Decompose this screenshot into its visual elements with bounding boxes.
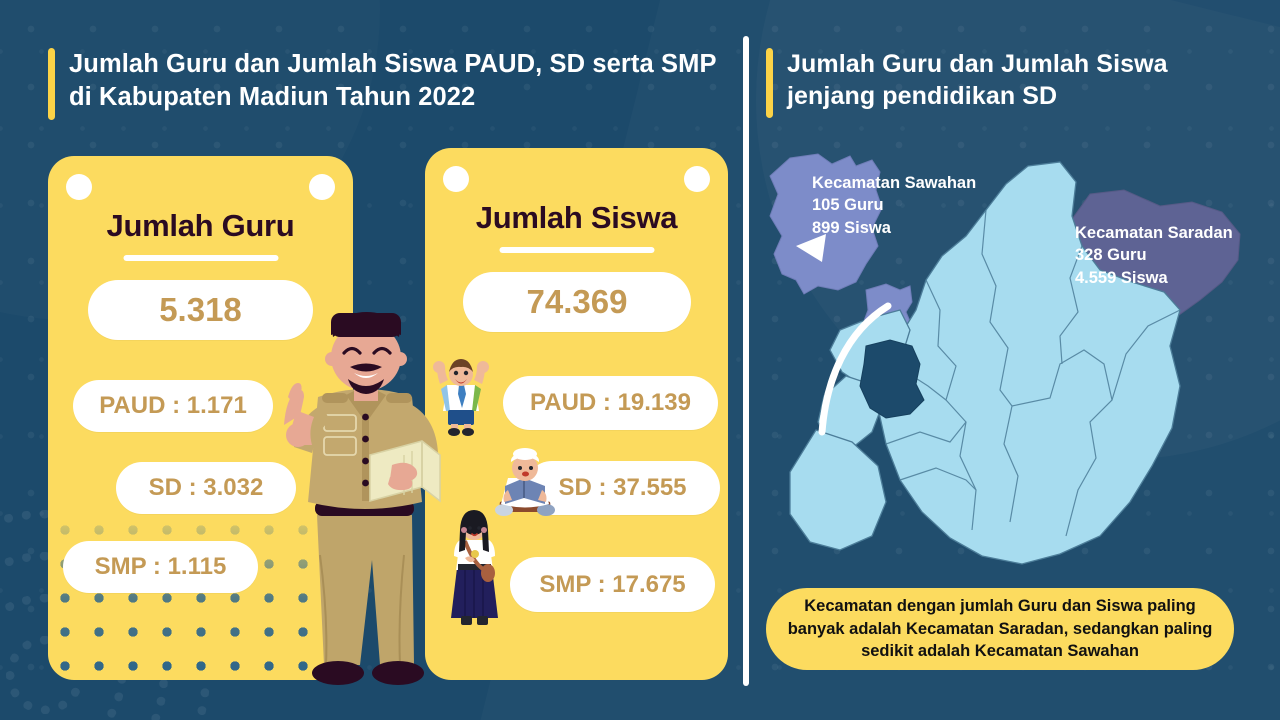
- infographic-canvas: Jumlah Guru dan Jumlah Siswa PAUD, SD se…: [0, 0, 1280, 720]
- right-title-accent-bar: [766, 48, 773, 118]
- map-caption-box: Kecamatan dengan jumlah Guru dan Siswa p…: [766, 588, 1234, 670]
- map-region-dark-inset: [860, 340, 924, 418]
- card-underline: [123, 255, 278, 261]
- map-label-sawahan: Kecamatan Sawahan 105 Guru 899 Siswa: [812, 172, 976, 239]
- left-title-text: Jumlah Guru dan Jumlah Siswa PAUD, SD se…: [69, 48, 728, 113]
- breakdown-pill-paud: PAUD : 1.171: [73, 380, 273, 432]
- total-value-pill: 74.369: [463, 272, 691, 332]
- map-label-saradan-students: 4.559 Siswa: [1075, 267, 1233, 289]
- map-label-saradan-teachers: 328 Guru: [1075, 244, 1233, 266]
- student-girl-illustration: [447, 508, 502, 633]
- card-heading: Jumlah Guru: [48, 208, 353, 244]
- card-underline: [499, 247, 654, 253]
- map-label-sawahan-teachers: 105 Guru: [812, 194, 976, 216]
- right-title-text: Jumlah Guru dan Jumlah Siswa jenjang pen…: [787, 48, 1236, 112]
- student-boy-cheering-illustration: [428, 358, 494, 436]
- breakdown-pill-paud: PAUD : 19.139: [503, 376, 718, 430]
- right-title-block: Jumlah Guru dan Jumlah Siswa jenjang pen…: [766, 48, 1236, 118]
- left-title-accent-bar: [48, 48, 55, 120]
- left-title-block: Jumlah Guru dan Jumlah Siswa PAUD, SD se…: [48, 48, 728, 120]
- breakdown-pill-smp: SMP : 1.115: [63, 541, 258, 593]
- card-hole-left-icon: [443, 166, 469, 192]
- map-label-saradan: Kecamatan Saradan 328 Guru 4.559 Siswa: [1075, 222, 1233, 289]
- map-label-sawahan-students: 899 Siswa: [812, 217, 976, 239]
- card-heading: Jumlah Siswa: [425, 200, 728, 236]
- panel-divider: [743, 36, 749, 686]
- map-label-sawahan-district: Kecamatan Sawahan: [812, 172, 976, 194]
- card-hole-right-icon: [309, 174, 335, 200]
- card-hole-left-icon: [66, 174, 92, 200]
- map-label-saradan-district: Kecamatan Saradan: [1075, 222, 1233, 244]
- card-hole-right-icon: [684, 166, 710, 192]
- breakdown-pill-smp: SMP : 17.675: [510, 557, 715, 612]
